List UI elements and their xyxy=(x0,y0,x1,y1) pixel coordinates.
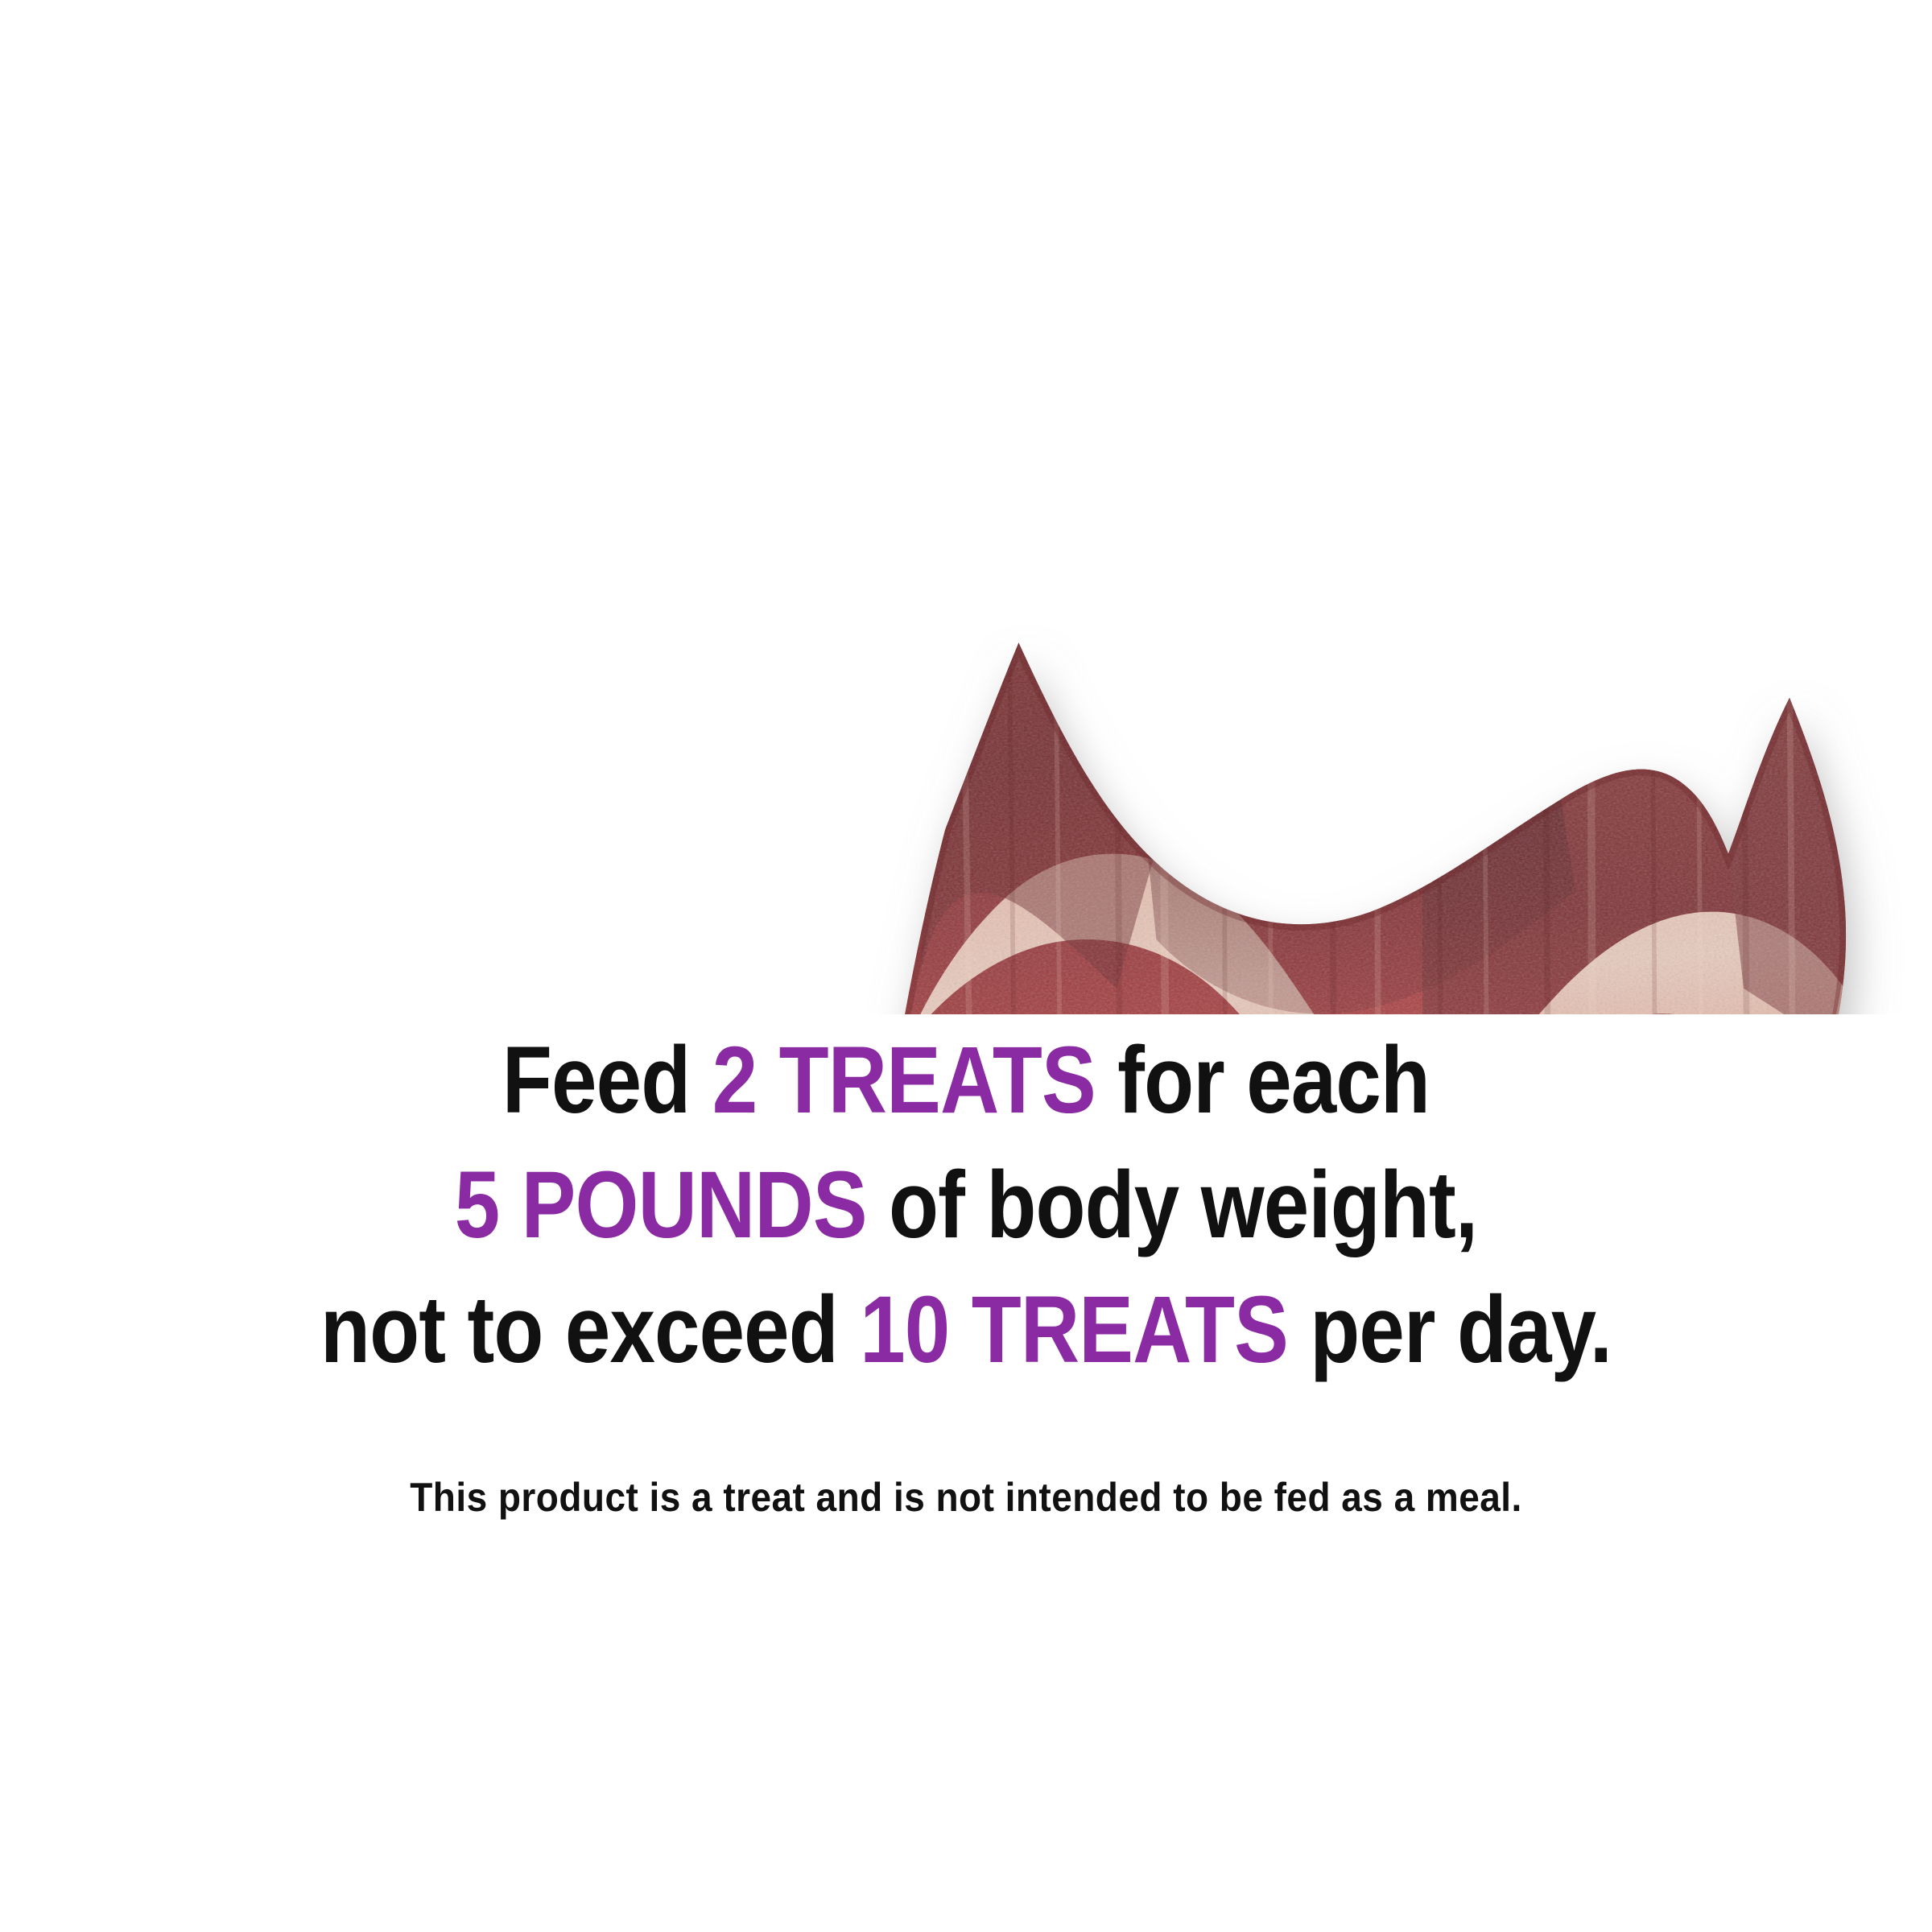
instruction-line-2: 5 POUNDS of body weight, xyxy=(135,1143,1797,1268)
instruction-line-1-highlight: 2 TREATS xyxy=(712,1027,1096,1133)
instruction-line-2-part-2: of body weight, xyxy=(867,1152,1478,1258)
instruction-line-2-highlight: 5 POUNDS xyxy=(455,1152,867,1258)
instruction-line-1-part-3: for each xyxy=(1096,1027,1430,1133)
product-figure xyxy=(0,483,1932,1014)
page-root: Feed 2 TREATS for each 5 POUNDS of body … xyxy=(0,0,1932,1932)
disclaimer-text: This product is a treat and is not inten… xyxy=(77,1472,1855,1523)
instruction-line-3: not to exceed 10 TREATS per day. xyxy=(135,1268,1797,1393)
instruction-line-3-part-3: per day. xyxy=(1288,1277,1612,1383)
feeding-instructions: Feed 2 TREATS for each 5 POUNDS of body … xyxy=(0,1018,1932,1393)
bacon-treat-image xyxy=(0,483,1932,1014)
instruction-line-1: Feed 2 TREATS for each xyxy=(135,1018,1797,1143)
instruction-line-1-part-1: Feed xyxy=(502,1027,712,1133)
instruction-line-3-highlight: 10 TREATS xyxy=(860,1277,1288,1383)
instruction-line-3-part-1: not to exceed xyxy=(320,1277,860,1383)
